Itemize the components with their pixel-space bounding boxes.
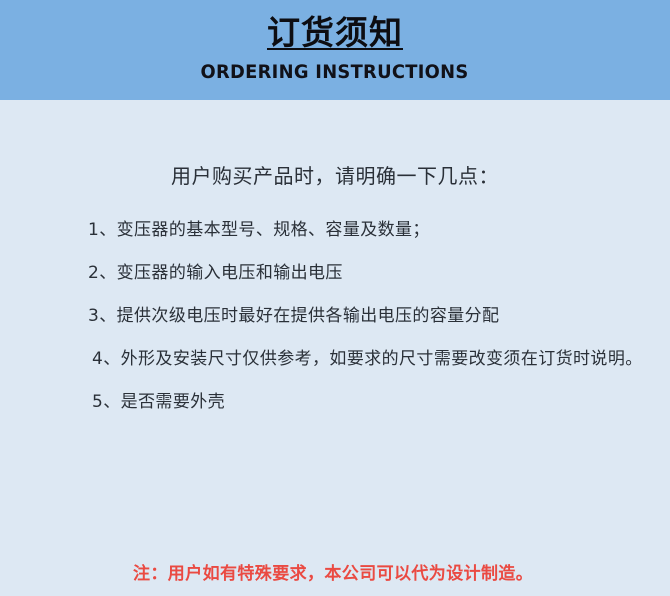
list-item: 5、是否需要外壳	[92, 387, 225, 412]
page-title-english: ORDERING INSTRUCTIONS	[201, 61, 469, 83]
list-item: 4、外形及安装尺寸仅供参考，如要求的尺寸需要改变须在订货时说明。	[92, 344, 643, 369]
ordering-instructions-page: 订货须知 ORDERING INSTRUCTIONS 用户购买产品时，请明确一下…	[0, 0, 670, 596]
note-text: 注：用户如有特殊要求，本公司可以代为设计制造。	[133, 559, 533, 584]
list-item: 3、提供次级电压时最好在提供各输出电压的容量分配	[88, 301, 499, 326]
list-item: 1、变压器的基本型号、规格、容量及数量；	[88, 215, 430, 240]
page-body: 用户购买产品时，请明确一下几点： 1、变压器的基本型号、规格、容量及数量； 2、…	[0, 100, 670, 596]
intro-text: 用户购买产品时，请明确一下几点：	[0, 160, 670, 189]
page-title-chinese: 订货须知	[267, 14, 403, 52]
page-header: 订货须知 ORDERING INSTRUCTIONS	[0, 0, 670, 100]
list-item: 2、变压器的输入电压和输出电压	[88, 258, 343, 283]
